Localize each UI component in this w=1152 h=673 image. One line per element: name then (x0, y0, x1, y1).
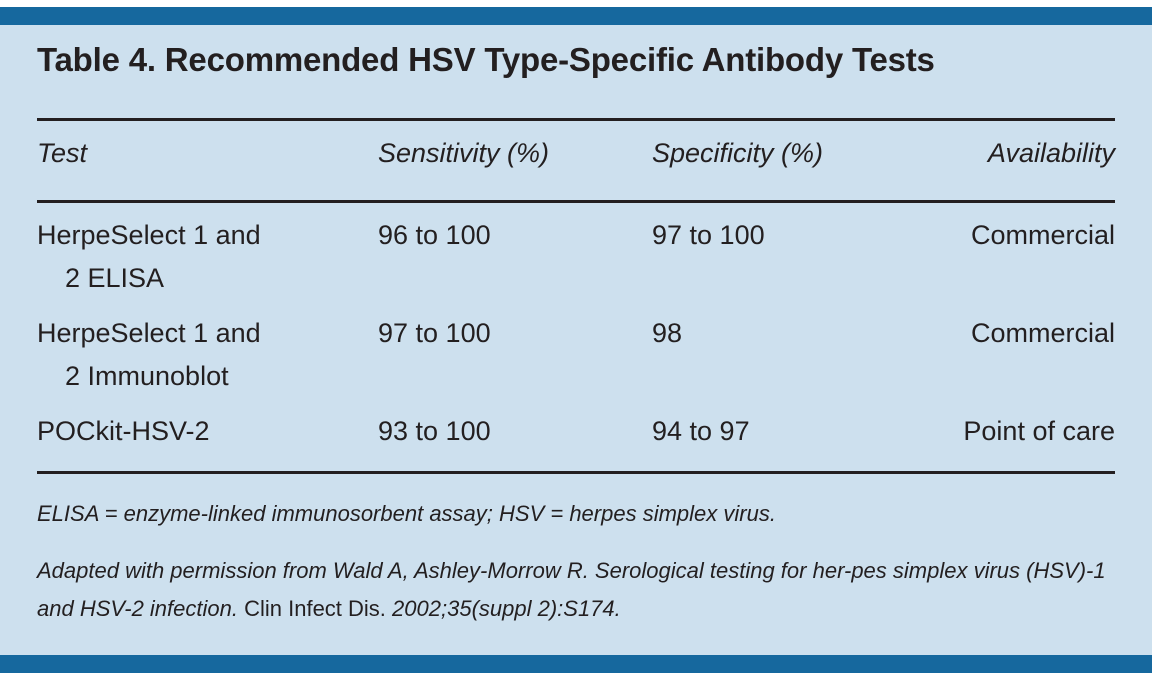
cell-specificity: 98 (652, 312, 682, 355)
table-row: HerpeSelect 1 and 2 Immunoblot 97 to 100… (37, 312, 1115, 410)
column-header-sensitivity: Sensitivity (%) (378, 132, 549, 175)
cell-test-line1: HerpeSelect 1 and (37, 220, 261, 250)
table-row: POCkit-HSV-2 93 to 100 94 to 97 Point of… (37, 410, 1115, 462)
footnote-source-citation: 2002;35(suppl 2):S174. (392, 596, 621, 621)
cell-test-line1: HerpeSelect 1 and (37, 318, 261, 348)
top-accent-bar (0, 7, 1152, 25)
column-header-test: Test (37, 132, 87, 175)
cell-sensitivity: 93 to 100 (378, 410, 491, 453)
rule-below-title (37, 118, 1115, 121)
cell-test-line2: 2 Immunoblot (37, 355, 261, 398)
table-row: HerpeSelect 1 and 2 ELISA 96 to 100 97 t… (37, 214, 1115, 312)
cell-availability: Commercial (937, 214, 1115, 257)
footnote-abbreviations: ELISA = enzyme-linked immunosorbent assa… (37, 495, 1122, 533)
rule-below-body (37, 471, 1115, 474)
cell-test: HerpeSelect 1 and 2 Immunoblot (37, 312, 261, 398)
cell-sensitivity: 97 to 100 (378, 312, 491, 355)
table-figure: Table 4. Recommended HSV Type-Specific A… (0, 0, 1152, 673)
bottom-accent-bar (0, 655, 1152, 673)
cell-specificity: 97 to 100 (652, 214, 765, 257)
footnote-source: Adapted with permission from Wald A, Ash… (37, 552, 1122, 628)
cell-test: POCkit-HSV-2 (37, 410, 210, 453)
cell-test: HerpeSelect 1 and 2 ELISA (37, 214, 261, 300)
table-header-row: Test Sensitivity (%) Specificity (%) Ava… (37, 132, 1115, 188)
cell-specificity: 94 to 97 (652, 410, 750, 453)
column-header-availability: Availability (937, 132, 1115, 175)
cell-test-line2: 2 ELISA (37, 257, 261, 300)
footnote-source-journal: Clin Infect Dis. (244, 596, 386, 621)
data-table: Test Sensitivity (%) Specificity (%) Ava… (37, 132, 1115, 462)
page-title: Table 4. Recommended HSV Type-Specific A… (37, 41, 1122, 79)
cell-availability: Point of care (937, 410, 1115, 453)
cell-sensitivity: 96 to 100 (378, 214, 491, 257)
cell-availability: Commercial (937, 312, 1115, 355)
cell-test-line1: POCkit-HSV-2 (37, 416, 210, 446)
column-header-specificity: Specificity (%) (652, 132, 823, 175)
